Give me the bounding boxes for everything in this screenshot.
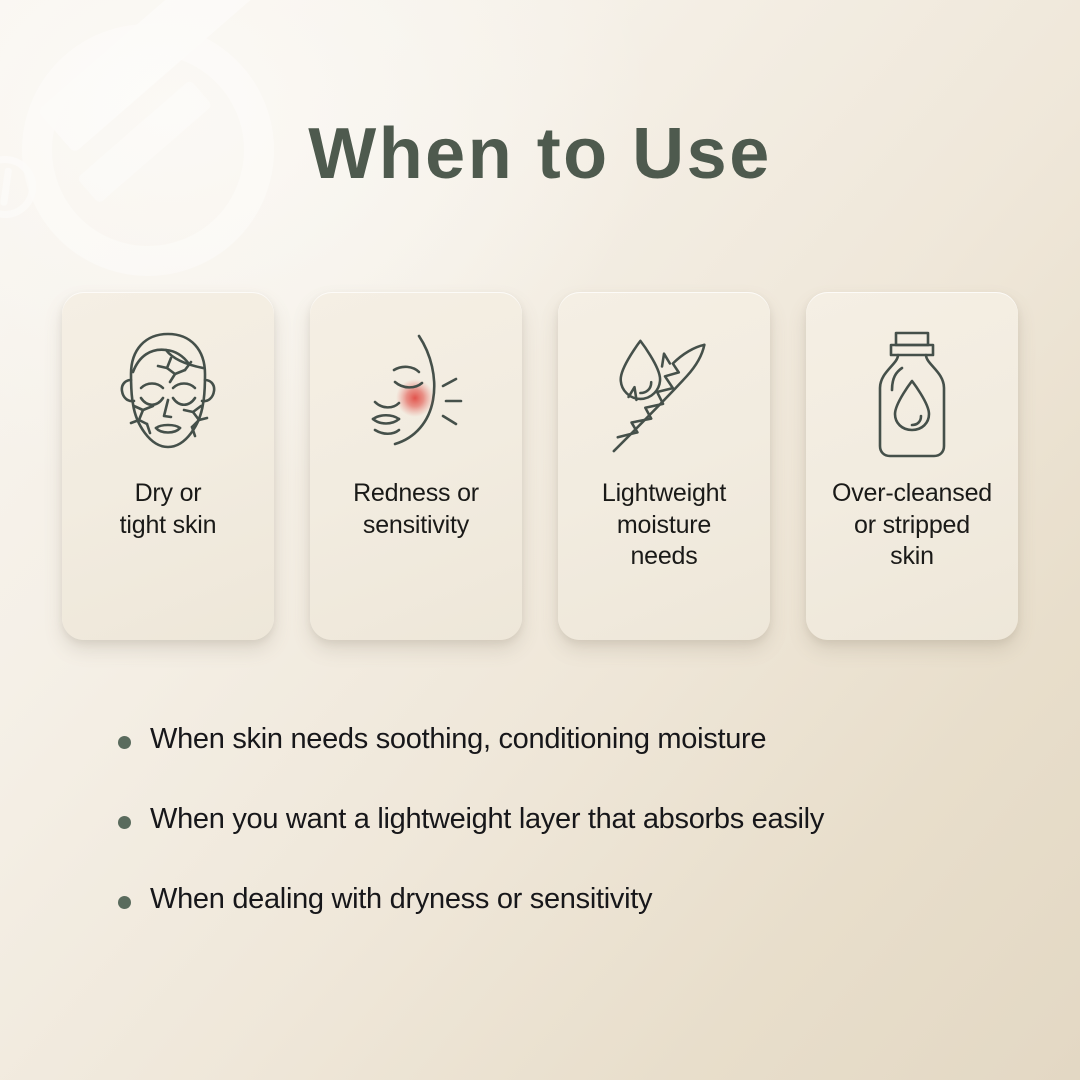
bullet-text: When skin needs soothing, conditioning m… bbox=[150, 722, 766, 757]
condition-card-list: Dry or tight skin bbox=[62, 292, 1018, 640]
bullet-text: When dealing with dryness or sensitivity bbox=[150, 882, 652, 917]
list-item: When dealing with dryness or sensitivity bbox=[118, 882, 1018, 917]
bullet-dot-icon bbox=[118, 736, 131, 749]
condition-card-lightweight-moisture[interactable]: Lightweight moisture needs bbox=[558, 292, 770, 640]
bottle-droplet-icon bbox=[852, 326, 972, 464]
bullet-text: When you want a lightweight layer that a… bbox=[150, 802, 824, 837]
bullet-dot-icon bbox=[118, 896, 131, 909]
condition-card-dry-skin[interactable]: Dry or tight skin bbox=[62, 292, 274, 640]
card-label: Redness or sensitivity bbox=[347, 478, 485, 541]
bullet-dot-icon bbox=[118, 816, 131, 829]
card-label: Over-cleansed or stripped skin bbox=[826, 478, 998, 573]
dry-cracked-face-icon bbox=[108, 326, 228, 464]
list-item: When you want a lightweight layer that a… bbox=[118, 802, 1018, 837]
droplet-feather-icon bbox=[604, 326, 724, 464]
condition-card-over-cleansed[interactable]: Over-cleansed or stripped skin bbox=[806, 292, 1018, 640]
condition-card-redness[interactable]: Redness or sensitivity bbox=[310, 292, 522, 640]
page-title: When to Use bbox=[0, 118, 1080, 190]
list-item: When skin needs soothing, conditioning m… bbox=[118, 722, 1018, 757]
infographic-canvas: MIANA When to Use bbox=[0, 0, 1080, 1080]
benefit-bullet-list: When skin needs soothing, conditioning m… bbox=[118, 722, 1018, 961]
face-profile-redness-icon bbox=[356, 326, 476, 464]
card-label: Dry or tight skin bbox=[114, 478, 223, 541]
card-label: Lightweight moisture needs bbox=[596, 478, 732, 573]
